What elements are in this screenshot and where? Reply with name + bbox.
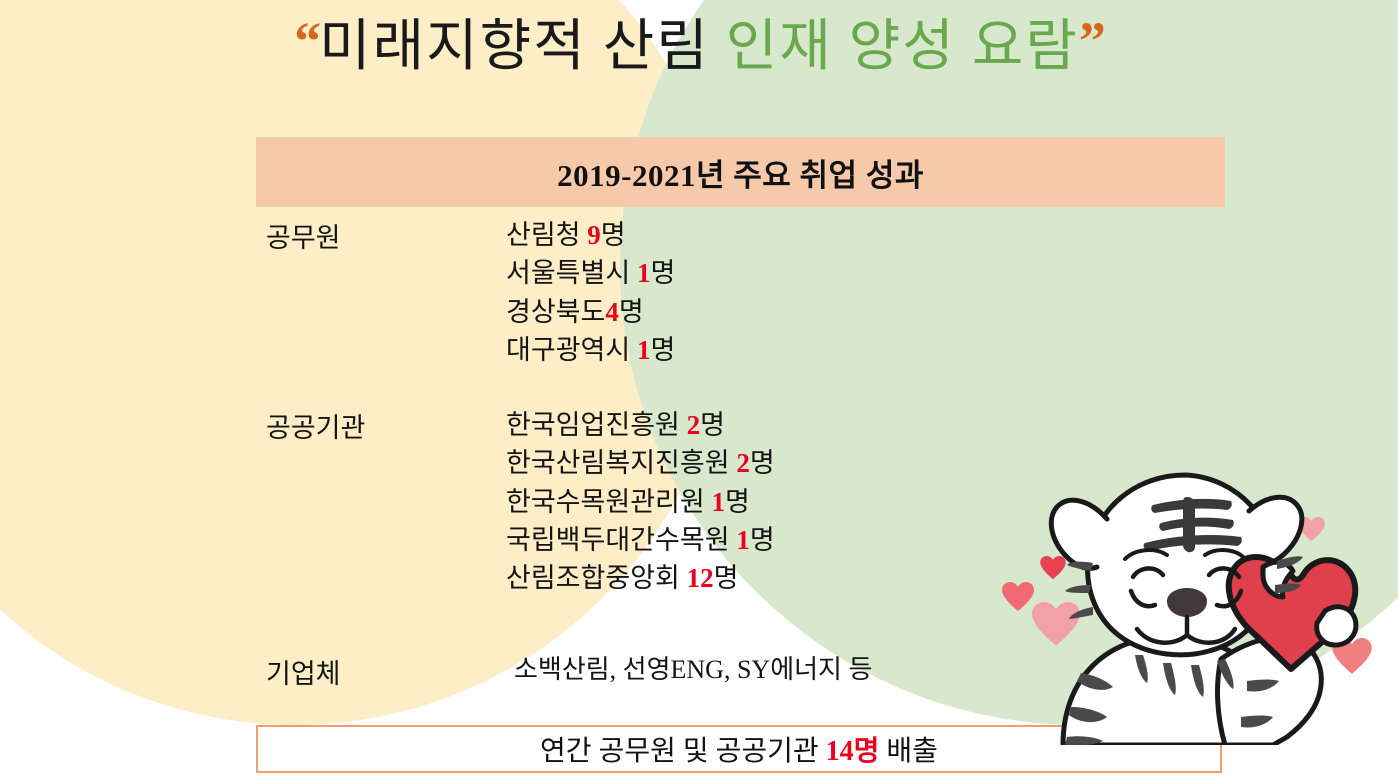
org-name: 국립백두대간수목원 (506, 525, 736, 555)
org-unit: 명 (750, 448, 775, 478)
table-row: 공공기관 한국임업진흥원 2명 한국산림복지진흥원 2명 한국수목원관리원 1명… (256, 406, 775, 598)
org-name: 대구광역시 (506, 335, 637, 365)
table-row: 공무원 산림청 9명 서울특별시 1명 경상북도4명 대구광역시 1명 (256, 216, 675, 369)
tiger-mascot-illustration (985, 445, 1385, 745)
org-unit: 명 (714, 563, 739, 593)
org-name: 경상북도 (506, 297, 605, 327)
list-item: 대구광역시 1명 (506, 331, 675, 369)
row-label-public-institution: 공공기관 (256, 406, 506, 445)
org-count: 1 (637, 335, 651, 365)
footer-highlight-count: 14명 (826, 736, 880, 767)
row-values-civil-servant: 산림청 9명 서울특별시 1명 경상북도4명 대구광역시 1명 (506, 216, 675, 369)
list-item: 소백산림, 선영ENG, SY에너지 등 (514, 652, 872, 689)
org-count: 12 (687, 563, 714, 593)
org-name: 서울특별시 (506, 258, 637, 288)
summary-footer-text: 연간 공무원 및 공공기관 14명 배출 (540, 729, 938, 769)
list-item: 산림조합중앙회 12명 (506, 559, 775, 597)
list-item: 국립백두대간수목원 1명 (506, 521, 775, 559)
infographic-canvas: “미래지향적 산림 인재 양성 요람” 2019-2021년 주요 취업 성과 … (0, 0, 1398, 781)
footer-suffix: 배출 (879, 736, 938, 767)
row-label-company: 기업체 (256, 652, 506, 691)
org-count: 2 (687, 410, 701, 440)
org-unit: 명 (601, 220, 626, 250)
close-quote-icon: ” (1079, 11, 1104, 71)
title-main-text: 미래지향적 산림 (319, 16, 726, 78)
footer-prefix: 연간 공무원 및 공공기관 (540, 736, 826, 767)
list-item: 한국산림복지진흥원 2명 (506, 444, 775, 482)
org-unit: 명 (700, 410, 725, 440)
org-unit: 명 (619, 297, 644, 327)
org-unit: 명 (650, 335, 675, 365)
org-name: 산림조합중앙회 (506, 563, 687, 593)
org-unit: 명 (750, 525, 775, 555)
org-name: 산림청 (506, 220, 587, 250)
page-title: “미래지향적 산림 인재 양성 요람” (0, 14, 1398, 75)
org-name: 한국수목원관리원 (506, 487, 711, 517)
table-row: 기업체 소백산림, 선영ENG, SY에너지 등 (256, 652, 872, 691)
list-item: 한국임업진흥원 2명 (506, 406, 775, 444)
org-name: 한국산림복지진흥원 (506, 448, 736, 478)
row-values-public-institution: 한국임업진흥원 2명 한국산림복지진흥원 2명 한국수목원관리원 1명 국립백두… (506, 406, 775, 598)
org-count: 4 (605, 297, 619, 327)
list-item: 경상북도4명 (506, 293, 675, 331)
org-count: 9 (587, 220, 601, 250)
open-quote-icon: “ (294, 11, 319, 71)
list-item: 한국수목원관리원 1명 (506, 483, 775, 521)
org-count: 1 (711, 487, 725, 517)
org-count: 1 (736, 525, 750, 555)
title-accent-text: 인재 양성 요람 (726, 16, 1079, 78)
list-item: 서울특별시 1명 (506, 254, 675, 292)
table-header-label: 2019-2021년 주요 취업 성과 (557, 150, 924, 195)
row-label-civil-servant: 공무원 (256, 216, 506, 255)
org-count: 1 (637, 258, 651, 288)
list-item: 산림청 9명 (506, 216, 675, 254)
org-count: 2 (736, 448, 750, 478)
org-unit: 명 (650, 258, 675, 288)
org-unit: 명 (725, 487, 750, 517)
table-header-band: 2019-2021년 주요 취업 성과 (256, 137, 1225, 207)
org-name: 한국임업진흥원 (506, 410, 687, 440)
row-values-company: 소백산림, 선영ENG, SY에너지 등 (506, 652, 872, 689)
